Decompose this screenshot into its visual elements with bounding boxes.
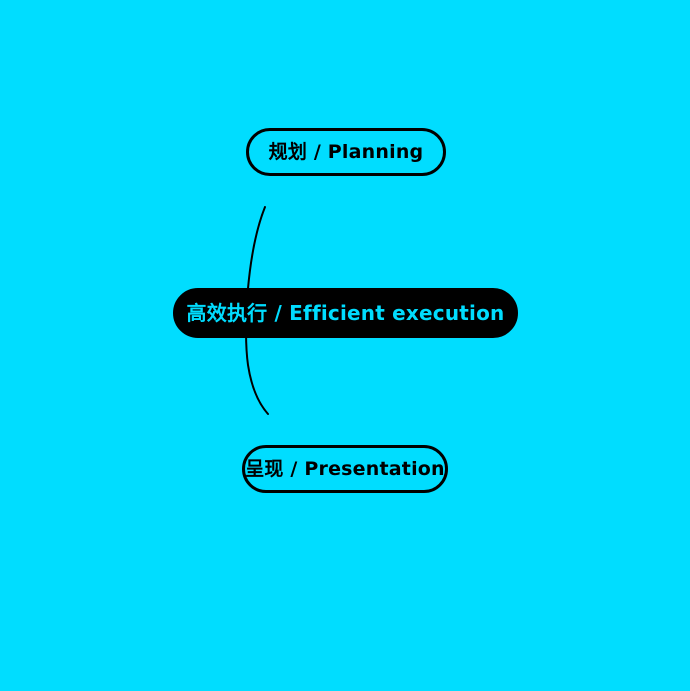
node-efficient-execution[interactable]: 高效执行 / Efficient execution bbox=[173, 288, 518, 338]
diagram-canvas: 规划 / Planning 高效执行 / Efficient execution… bbox=[0, 0, 690, 691]
node-planning[interactable]: 规划 / Planning bbox=[246, 128, 446, 176]
connector-layer bbox=[0, 0, 690, 691]
node-planning-label: 规划 / Planning bbox=[269, 143, 424, 162]
node-presentation[interactable]: 呈现 / Presentation bbox=[242, 445, 448, 493]
node-presentation-label: 呈现 / Presentation bbox=[245, 460, 445, 479]
node-efficient-execution-label: 高效执行 / Efficient execution bbox=[187, 303, 505, 323]
